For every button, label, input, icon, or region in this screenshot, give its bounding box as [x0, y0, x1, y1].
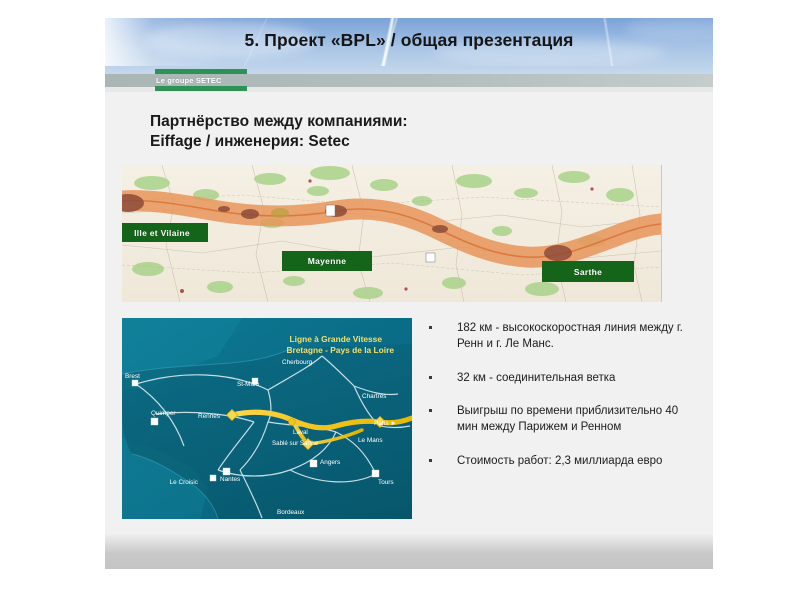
subtitle-line-2: Eiffage / инженерия: Setec — [150, 132, 408, 152]
bullet-text-3: Выигрыш по времени приблизительно 40 мин… — [457, 405, 678, 433]
bullet-text-2: 32 км - соединительная ветка — [457, 372, 615, 384]
bullet-dot-icon — [429, 326, 432, 329]
lgv-overview-map: Ligne à Grande Vitesse Bretagne - Pays d… — [122, 318, 412, 519]
setec-logo-bar-bottom — [155, 86, 247, 91]
region-label-ille-et-vilaine: Ille et Vilaine — [122, 223, 208, 242]
city-label-brest: Brest — [125, 373, 140, 380]
lgv-overview-map-graphic: Ligne à Grande Vitesse Bretagne - Pays d… — [122, 318, 412, 519]
city-label-laval: Laval — [293, 429, 308, 436]
bullet-item-3: Выигрыш по времени приблизительно 40 мин… — [423, 403, 699, 436]
subtitle-line-1: Партнёрство между компаниями: — [150, 113, 408, 130]
city-label-st-malo: St-Malo — [237, 381, 259, 388]
city-label-le-mans: Le Mans — [358, 437, 383, 444]
bullet-text-4: Стоимость работ: 2,3 миллиарда евро — [457, 455, 662, 467]
city-label-bordeaux: Bordeaux — [277, 509, 305, 516]
slide-title: 5. Проект «BPL» / общая презентация — [105, 30, 713, 51]
region-label-mayenne: Mayenne — [282, 251, 372, 271]
slide-header-banner: 5. Проект «BPL» / общая презентация — [105, 18, 713, 66]
bullet-item-1: 182 км - высокоскоростная линия между г.… — [423, 320, 699, 353]
setec-logo-band: Le groupe SETEC — [105, 66, 713, 92]
lgv-map-title-line2: Bretagne - Pays de la Loire — [286, 345, 394, 355]
bullet-list: 182 км - высокоскоростная линия между г.… — [423, 320, 699, 486]
region-label-sarthe: Sarthe — [542, 261, 634, 282]
city-label-sable: Sablé sur Sarthe — [272, 440, 319, 447]
lgv-map-title-line1: Ligne à Grande Vitesse — [290, 334, 383, 344]
city-label-quimper: Quimper — [151, 410, 176, 417]
setec-logo-bar-top — [155, 69, 247, 74]
slide-bottom-shadow — [105, 533, 713, 569]
city-label-rennes: Rennes — [198, 413, 220, 420]
bullet-dot-icon — [429, 376, 432, 379]
city-label-nantes: Nantes — [220, 476, 240, 483]
presentation-slide: 5. Проект «BPL» / общая презентация Le g… — [105, 18, 713, 569]
bullet-item-2: 32 км - соединительная ветка — [423, 370, 699, 386]
bullet-text-1: 182 км - высокоскоростная линия между г.… — [457, 322, 683, 350]
route-corridor-map: Ille et Vilaine Mayenne Sarthe — [122, 165, 662, 302]
bullet-item-4: Стоимость работ: 2,3 миллиарда евро — [423, 453, 699, 469]
city-label-le-croisic: Le Croisic — [170, 479, 199, 486]
city-label-tours: Tours — [378, 479, 394, 486]
slide-body: Партнёрство между компаниями: Eiffage / … — [105, 92, 713, 569]
city-label-angers: Angers — [320, 459, 340, 466]
setec-logo-label: Le groupe SETEC — [156, 76, 222, 85]
city-label-chartres: Chartres — [362, 393, 387, 400]
bullet-dot-icon — [429, 459, 432, 462]
city-label-paris: Paris ► — [374, 420, 397, 427]
slide-subtitle: Партнёрство между компаниями: Eiffage / … — [150, 112, 408, 153]
city-label-cherbourg: Cherbourg — [282, 359, 313, 366]
bullet-dot-icon — [429, 409, 432, 412]
